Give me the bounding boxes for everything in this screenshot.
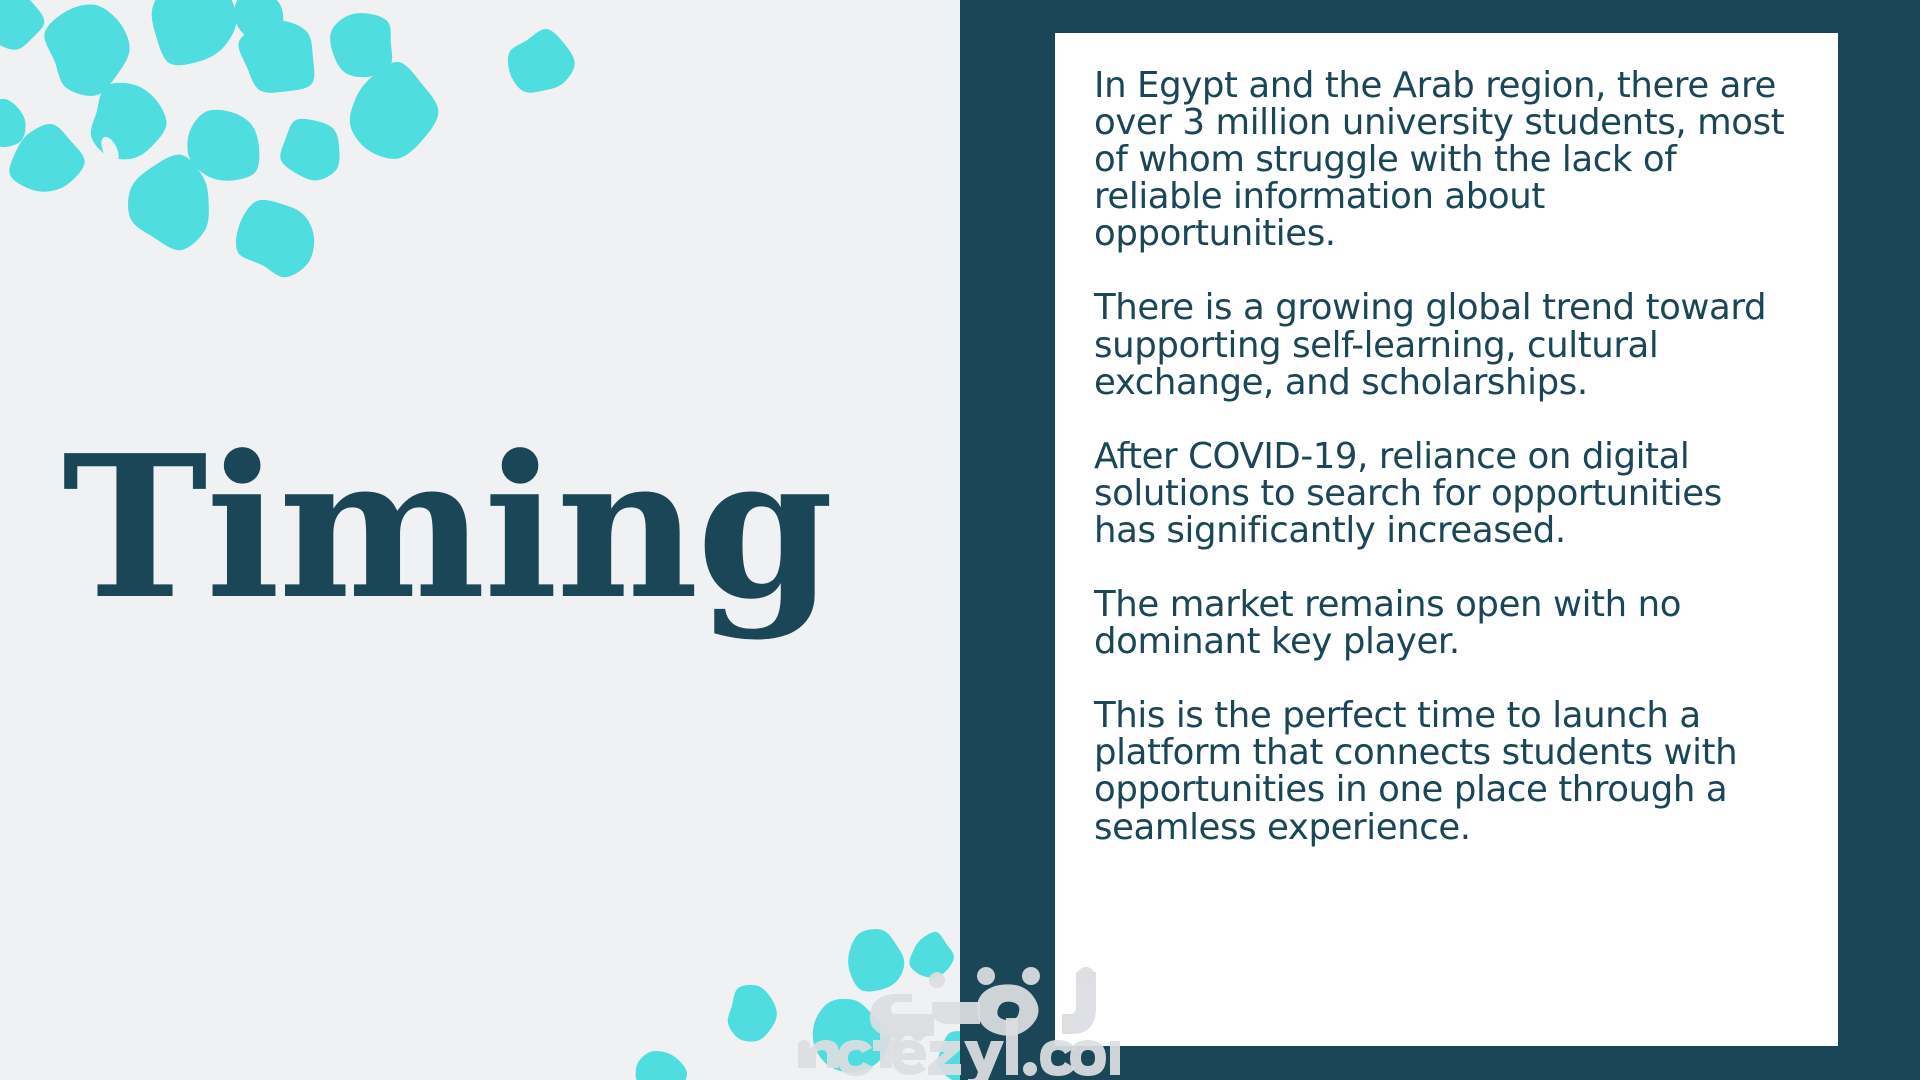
decorative-blob [187,110,259,181]
decorative-blob [330,13,392,77]
decorative-blob [91,83,167,159]
decorative-blob [848,929,904,991]
decorative-blob [813,999,890,1073]
decorative-blob [234,0,283,48]
decorative-blob [128,155,209,251]
left-panel: Timing [0,0,960,1080]
decorative-blob [728,985,777,1041]
decorative-blob [152,0,237,65]
decorative-blob [44,5,129,96]
decorative-blob [236,200,314,277]
body-paragraph: After COVID-19, reliance on digital solu… [1094,438,1794,549]
decorative-blob [636,1051,687,1080]
decorative-blob [280,119,339,181]
body-paragraph: The market remains open with no dominant… [1094,586,1794,660]
content-card: In Egypt and the Arab region, there are … [1055,33,1838,1046]
decorative-blob [238,21,314,93]
decorative-blob [350,62,439,159]
body-paragraph: This is the perfect time to launch a pla… [1094,697,1794,845]
right-panel: In Egypt and the Arab region, there are … [960,0,1920,1080]
body-paragraph: In Egypt and the Arab region, there are … [1094,67,1794,252]
page-title: Timing [62,430,832,626]
presentation-slide: Timing In Egypt and the Arab region, the… [0,0,1920,1080]
body-paragraph: There is a growing global trend toward s… [1094,289,1794,400]
decorative-blob [508,29,575,93]
blob-notch [98,134,123,165]
decorative-blob [0,0,44,50]
decorative-blob [9,124,84,192]
decorative-blob [937,1031,960,1080]
decorative-blob [909,932,954,978]
decorative-blob [0,99,26,147]
